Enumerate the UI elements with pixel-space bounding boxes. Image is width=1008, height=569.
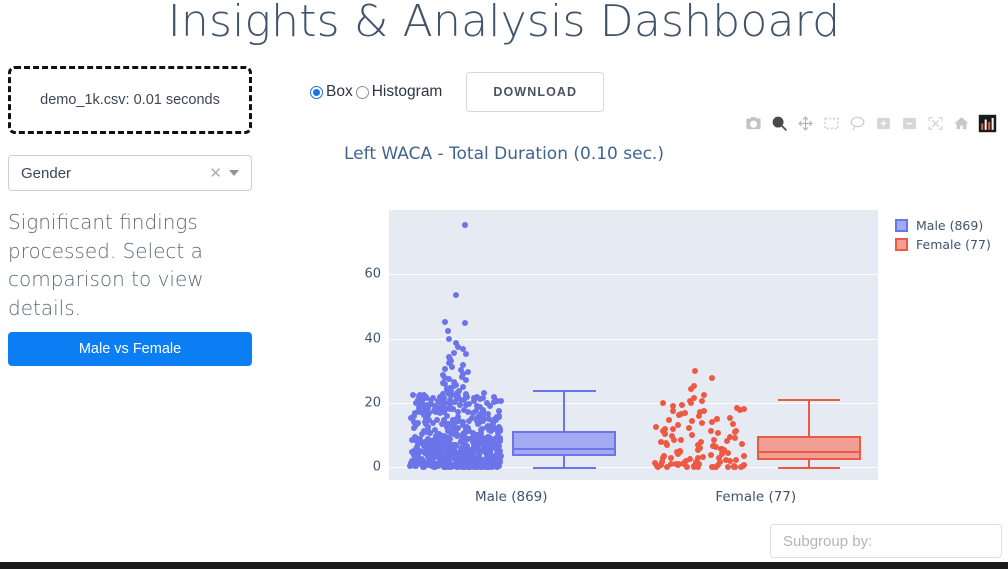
box-plot-chart: Left WACA - Total Duration (0.10 sec.) 0…	[300, 140, 1000, 510]
y-axis-tick-label: 0	[373, 460, 381, 475]
whisker-cap-lower[interactable]	[533, 467, 595, 469]
zoom-in-icon[interactable]	[870, 110, 896, 136]
strip-point[interactable]	[452, 442, 458, 448]
strip-point[interactable]	[495, 460, 501, 466]
strip-point[interactable]	[715, 430, 721, 436]
page-title: Insights & Analysis Dashboard	[0, 0, 1008, 47]
strip-point[interactable]	[454, 463, 460, 469]
subgroup-by-input[interactable]	[770, 524, 1002, 558]
camera-icon[interactable]	[740, 110, 766, 136]
x-axis-tick-label: Female (77)	[715, 489, 796, 505]
y-axis-tick-label: 20	[364, 395, 381, 410]
whisker-cap-upper[interactable]	[778, 399, 840, 401]
whisker-lower[interactable]	[563, 456, 565, 467]
variable-select[interactable]: Gender ✕	[8, 155, 252, 191]
strip-point[interactable]	[480, 395, 486, 401]
strip-point[interactable]	[475, 438, 481, 444]
whisker-lower[interactable]	[808, 460, 810, 467]
strip-point[interactable]	[664, 442, 670, 448]
radio-label-histogram: Histogram	[372, 83, 443, 101]
strip-point[interactable]	[466, 418, 472, 424]
strip-point[interactable]	[713, 464, 719, 470]
strip-point[interactable]	[464, 447, 470, 453]
strip-point[interactable]	[695, 447, 701, 453]
plotly-modebar	[740, 110, 1000, 136]
strip-point[interactable]	[455, 409, 461, 415]
strip-point[interactable]	[422, 410, 428, 416]
strip-point[interactable]	[724, 438, 730, 444]
strip-point[interactable]	[495, 430, 501, 436]
download-button[interactable]: DOWNLOAD	[466, 72, 604, 112]
strip-point[interactable]	[426, 438, 432, 444]
strip-point[interactable]	[662, 431, 668, 437]
whisker-cap-lower[interactable]	[778, 467, 840, 469]
strip-point[interactable]	[681, 460, 687, 466]
strip-point[interactable]	[419, 403, 425, 409]
whisker-upper[interactable]	[563, 390, 565, 431]
strip-point[interactable]	[679, 402, 685, 408]
strip-point[interactable]	[465, 409, 471, 415]
sidebar: demo_1k.csv: 0.01 seconds Gender ✕ Signi…	[8, 66, 252, 366]
strip-point[interactable]	[448, 422, 454, 428]
strip-point[interactable]	[421, 464, 427, 470]
strip-point[interactable]	[441, 395, 447, 401]
strip-point[interactable]	[686, 425, 692, 431]
strip-point[interactable]	[670, 408, 676, 414]
strip-point[interactable]	[415, 420, 421, 426]
strip-point[interactable]	[421, 449, 427, 455]
strip-point[interactable]	[699, 398, 705, 404]
legend-label: Male (869)	[916, 218, 983, 233]
strip-point[interactable]	[424, 429, 430, 435]
strip-point[interactable]	[678, 437, 684, 443]
strip-point[interactable]	[725, 464, 731, 470]
legend-swatch-icon	[895, 238, 908, 251]
variable-select-value: Gender	[21, 165, 202, 182]
strip-point[interactable]	[445, 328, 451, 334]
chart-controls: Box Histogram DOWNLOAD	[310, 72, 604, 112]
strip-point[interactable]	[664, 464, 670, 470]
strip-point[interactable]	[737, 407, 743, 413]
strip-point[interactable]	[462, 320, 468, 326]
strip-point[interactable]	[442, 461, 448, 467]
strip-point[interactable]	[741, 453, 747, 459]
strip-point[interactable]	[446, 438, 452, 444]
strip-point[interactable]	[435, 438, 441, 444]
strip-point[interactable]	[412, 410, 418, 416]
box-median-line[interactable]	[757, 451, 861, 453]
strip-point[interactable]	[474, 403, 480, 409]
strip-point[interactable]	[471, 395, 477, 401]
radio-dot-icon	[310, 86, 323, 99]
strip-point[interactable]	[462, 430, 468, 436]
strip-point[interactable]	[443, 454, 449, 460]
upload-status-label: demo_1k.csv: 0.01 seconds	[40, 92, 220, 108]
strip-point[interactable]	[491, 399, 497, 405]
pan-icon[interactable]	[792, 110, 818, 136]
radio-dot-icon	[356, 86, 369, 99]
chevron-down-icon[interactable]	[229, 170, 239, 176]
strip-point[interactable]	[733, 428, 739, 434]
strip-point[interactable]	[442, 366, 448, 372]
close-icon[interactable]: ✕	[202, 166, 229, 181]
strip-point[interactable]	[653, 424, 659, 430]
strip-point[interactable]	[689, 432, 695, 438]
zoom-out-icon[interactable]	[896, 110, 922, 136]
strip-point[interactable]	[719, 446, 725, 452]
strip-point[interactable]	[463, 402, 469, 408]
box-iqr[interactable]	[757, 436, 861, 460]
comparison-button-male-vs-female[interactable]: Male vs Female	[8, 332, 252, 366]
strip-point[interactable]	[423, 421, 429, 427]
strip-point[interactable]	[450, 406, 456, 412]
radio-option-box[interactable]: Box	[310, 83, 353, 101]
box-select-icon[interactable]	[818, 110, 844, 136]
plotly-logo-icon[interactable]	[974, 110, 1000, 136]
strip-point[interactable]	[416, 393, 422, 399]
strip-point[interactable]	[453, 292, 459, 298]
strip-point[interactable]	[660, 400, 666, 406]
lasso-select-icon[interactable]	[844, 110, 870, 136]
strip-point[interactable]	[727, 415, 733, 421]
strip-point[interactable]	[436, 406, 442, 412]
whisker-upper[interactable]	[808, 399, 810, 436]
strip-point[interactable]	[465, 464, 471, 470]
strip-point[interactable]	[730, 421, 736, 427]
bottom-bar	[0, 562, 1008, 569]
strip-point[interactable]	[488, 441, 494, 447]
strip-point[interactable]	[738, 464, 744, 470]
strip-point[interactable]	[711, 443, 717, 449]
strip-point[interactable]	[464, 394, 470, 400]
strip-point[interactable]	[696, 413, 702, 419]
radio-label-box: Box	[326, 83, 353, 101]
strip-point[interactable]	[732, 435, 738, 441]
legend-item[interactable]: Male (869)	[895, 216, 991, 235]
strip-point[interactable]	[689, 418, 695, 424]
strip-point[interactable]	[496, 408, 502, 414]
strip-point[interactable]	[455, 425, 461, 431]
legend-swatch-icon	[895, 219, 908, 232]
strip-point[interactable]	[447, 399, 453, 405]
strip-point[interactable]	[688, 386, 694, 392]
strip-point[interactable]	[463, 377, 469, 383]
status-message: Significant findings processed. Select a…	[8, 208, 252, 322]
strip-point[interactable]	[430, 456, 436, 462]
strip-point[interactable]	[691, 464, 697, 470]
legend-item[interactable]: Female (77)	[895, 235, 991, 254]
strip-point[interactable]	[708, 428, 714, 434]
strip-point[interactable]	[485, 463, 491, 469]
gridline	[389, 339, 878, 340]
strip-point[interactable]	[709, 375, 715, 381]
strip-point[interactable]	[692, 368, 698, 374]
chart-title: Left WACA - Total Duration (0.10 sec.)	[344, 144, 664, 164]
strip-point[interactable]	[493, 417, 499, 423]
strip-point[interactable]	[470, 446, 476, 452]
strip-point[interactable]	[670, 426, 676, 432]
strip-point[interactable]	[725, 450, 731, 456]
strip-point[interactable]	[701, 392, 707, 398]
strip-point[interactable]	[674, 449, 680, 455]
strip-point[interactable]	[671, 437, 677, 443]
y-axis-tick-label: 60	[364, 267, 381, 282]
y-axis-tick-label: 40	[364, 331, 381, 346]
strip-point[interactable]	[480, 435, 486, 441]
strip-point[interactable]	[458, 438, 464, 444]
strip-point[interactable]	[433, 446, 439, 452]
strip-point[interactable]	[444, 413, 450, 419]
strip-point[interactable]	[460, 419, 466, 425]
strip-point[interactable]	[708, 452, 714, 458]
strip-point[interactable]	[457, 449, 463, 455]
legend-label: Female (77)	[916, 237, 991, 252]
strip-point[interactable]	[666, 417, 672, 423]
chart-legend: Male (869)Female (77)	[895, 216, 991, 254]
strip-point[interactable]	[480, 418, 486, 424]
strip-point[interactable]	[474, 418, 480, 424]
strip-point[interactable]	[425, 405, 431, 411]
strip-point[interactable]	[451, 350, 457, 356]
strip-point[interactable]	[463, 351, 469, 357]
box-iqr[interactable]	[512, 431, 616, 456]
strip-point[interactable]	[739, 441, 745, 447]
strip-point[interactable]	[668, 455, 674, 461]
strip-point[interactable]	[462, 222, 468, 228]
strip-point[interactable]	[456, 455, 462, 461]
strip-point[interactable]	[478, 464, 484, 470]
gridline	[389, 274, 878, 275]
strip-point[interactable]	[688, 400, 694, 406]
strip-point[interactable]	[676, 461, 682, 467]
strip-point[interactable]	[442, 319, 448, 325]
strip-point[interactable]	[430, 420, 436, 426]
strip-point[interactable]	[481, 390, 487, 396]
zoom-icon[interactable]	[766, 110, 792, 136]
plot-area[interactable]: 0204060Male (869)Female (77)	[389, 210, 878, 480]
x-axis-tick-label: Male (869)	[475, 489, 548, 505]
strip-point[interactable]	[417, 436, 423, 442]
strip-point[interactable]	[714, 416, 720, 422]
home-icon[interactable]	[948, 110, 974, 136]
strip-point[interactable]	[449, 462, 455, 468]
strip-point[interactable]	[496, 443, 502, 449]
strip-point[interactable]	[449, 364, 455, 370]
strip-point[interactable]	[498, 398, 504, 404]
radio-option-histogram[interactable]: Histogram	[356, 83, 443, 101]
plot-type-radio-group: Box Histogram	[310, 83, 442, 101]
strip-point[interactable]	[699, 420, 705, 426]
autoscale-icon[interactable]	[922, 110, 948, 136]
strip-point[interactable]	[446, 336, 452, 342]
whisker-cap-upper[interactable]	[533, 390, 595, 392]
strip-point[interactable]	[479, 457, 485, 463]
strip-point[interactable]	[678, 411, 684, 417]
strip-point[interactable]	[494, 454, 500, 460]
strip-point[interactable]	[658, 462, 664, 468]
strip-point[interactable]	[496, 424, 502, 430]
strip-point[interactable]	[411, 425, 417, 431]
strip-point[interactable]	[484, 447, 490, 453]
strip-point[interactable]	[471, 461, 477, 467]
box-median-line[interactable]	[512, 448, 616, 450]
file-upload-dropzone[interactable]: demo_1k.csv: 0.01 seconds	[8, 66, 252, 134]
